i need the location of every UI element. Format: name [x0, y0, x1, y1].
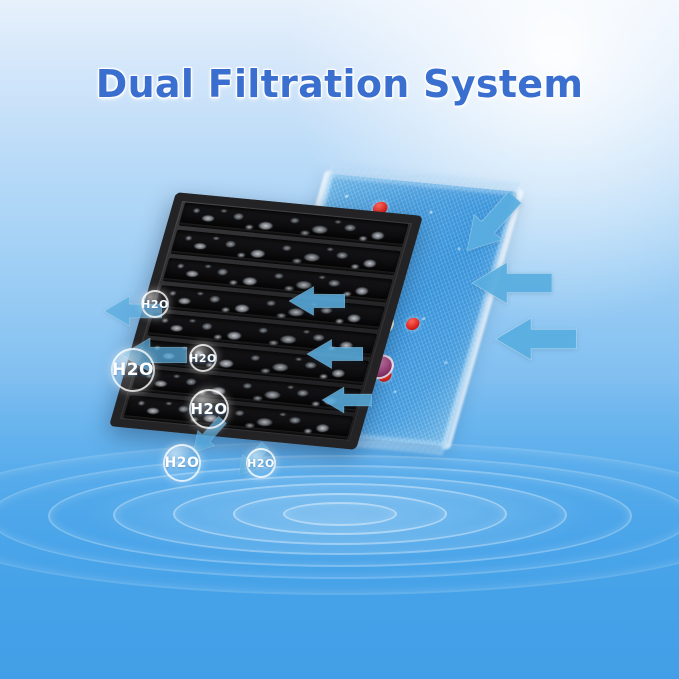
h2o-bubble-label: H2O: [190, 400, 227, 418]
h2o-bubble: H2O: [246, 448, 276, 478]
inflow-arrow: [455, 196, 527, 252]
red-germ-icon: [405, 317, 421, 330]
h2o-bubble: H2O: [111, 348, 155, 392]
inflow-arrow: [492, 318, 580, 360]
carbon-flow-arrow: [307, 336, 363, 372]
h2o-bubble-label: H2O: [112, 360, 154, 380]
h2o-bubble: H2O: [163, 444, 201, 482]
inflow-arrow: [472, 262, 552, 304]
h2o-bubble: H2O: [189, 389, 229, 429]
h2o-bubble-label: H2O: [165, 455, 200, 471]
carbon-flow-arrow: [322, 383, 372, 417]
h2o-bubble-label: H2O: [141, 298, 169, 311]
h2o-bubble-label: H2O: [189, 352, 217, 365]
h2o-bubble: H2O: [189, 344, 217, 372]
steps-strip: 1 2 3 Filter sediment & impurities. keep…: [0, 549, 679, 679]
carbon-flow-arrow: [289, 283, 345, 319]
h2o-bubble-label: H2O: [247, 457, 275, 470]
h2o-bubble: H2O: [141, 290, 169, 318]
infographic-canvas: Dual Filtration System: [0, 0, 679, 679]
